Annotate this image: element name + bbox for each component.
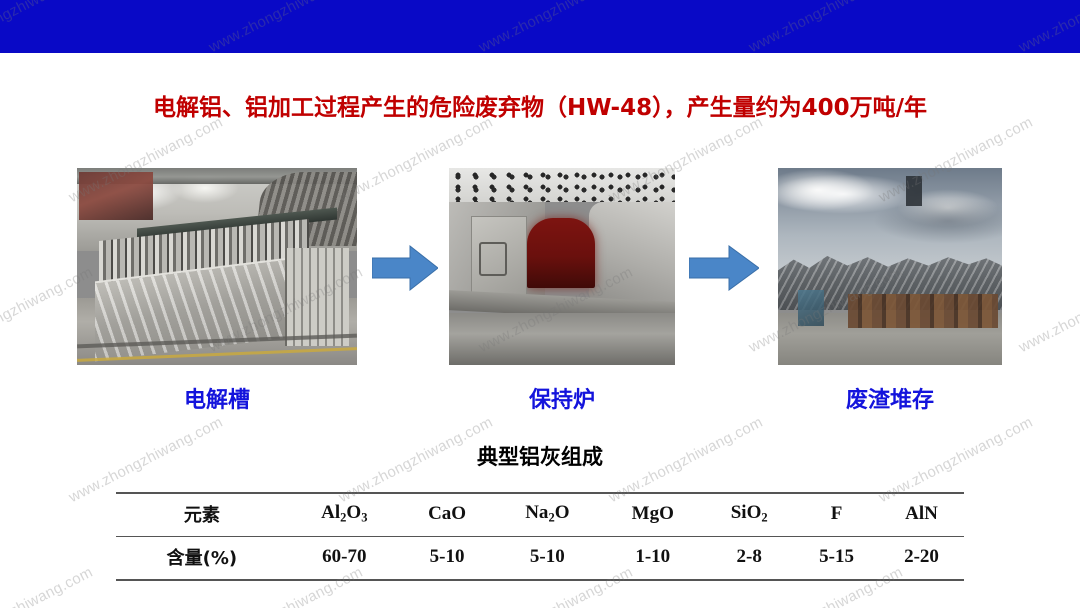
arrow-right-icon — [689, 243, 759, 293]
header-cell-sio2: SiO2 — [704, 493, 794, 537]
cell-value-aln: 2-20 — [879, 537, 964, 581]
cell-value-sio2: 2-8 — [704, 537, 794, 581]
header-cell-aln: AlN — [879, 493, 964, 537]
header-cell-na2o: Na2O — [493, 493, 601, 537]
table-row: 含量(%) 60-70 5-10 5-10 1-10 2-8 5-15 2-20 — [116, 537, 964, 581]
slide-root: 研究背景介绍—铝灰的产生 电解铝、铝加工过程产生的危险废弃物（HW-48），产生… — [0, 0, 1080, 608]
table-body: 含量(%) 60-70 5-10 5-10 1-10 2-8 5-15 2-20 — [116, 537, 964, 581]
cell-value-na2o: 5-10 — [493, 537, 601, 581]
subtitle-text: 电解铝、铝加工过程产生的危险废弃物（HW-48），产生量约为400万吨/年 — [0, 88, 1080, 122]
cell-row-label-content: 含量(%) — [116, 537, 288, 581]
table-header-row: 元素 Al2O3 CaO Na2O MgO SiO2 F AlN — [116, 493, 964, 537]
composition-table: 元素 Al2O3 CaO Na2O MgO SiO2 F AlN 含量(%) 6… — [116, 492, 964, 581]
cell-value-mgo: 1-10 — [601, 537, 704, 581]
slag-stockpile-photo — [778, 168, 1002, 365]
photo-caption-slag-stockpile: 废渣堆存 — [778, 382, 1002, 414]
cell-value-f: 5-15 — [794, 537, 879, 581]
header-cell-row-label: 元素 — [116, 493, 288, 537]
photo-caption-electrolysis-cell: 电解槽 — [77, 382, 357, 414]
cell-value-al2o3: 60-70 — [288, 537, 401, 581]
composition-table-wrap: 元素 Al2O3 CaO Na2O MgO SiO2 F AlN 含量(%) 6… — [116, 492, 964, 581]
table-title: 典型铝灰组成 — [0, 441, 1080, 471]
holding-furnace-photo — [449, 168, 675, 365]
table-head: 元素 Al2O3 CaO Na2O MgO SiO2 F AlN — [116, 493, 964, 537]
header-cell-cao: CaO — [401, 493, 494, 537]
header-cell-al2o3: Al2O3 — [288, 493, 401, 537]
electrolysis-cell-photo — [77, 168, 357, 365]
header-cell-mgo: MgO — [601, 493, 704, 537]
photo-caption-holding-furnace: 保持炉 — [449, 382, 675, 414]
cell-value-cao: 5-10 — [401, 537, 494, 581]
header-cell-f: F — [794, 493, 879, 537]
arrow-right-icon — [372, 243, 438, 293]
